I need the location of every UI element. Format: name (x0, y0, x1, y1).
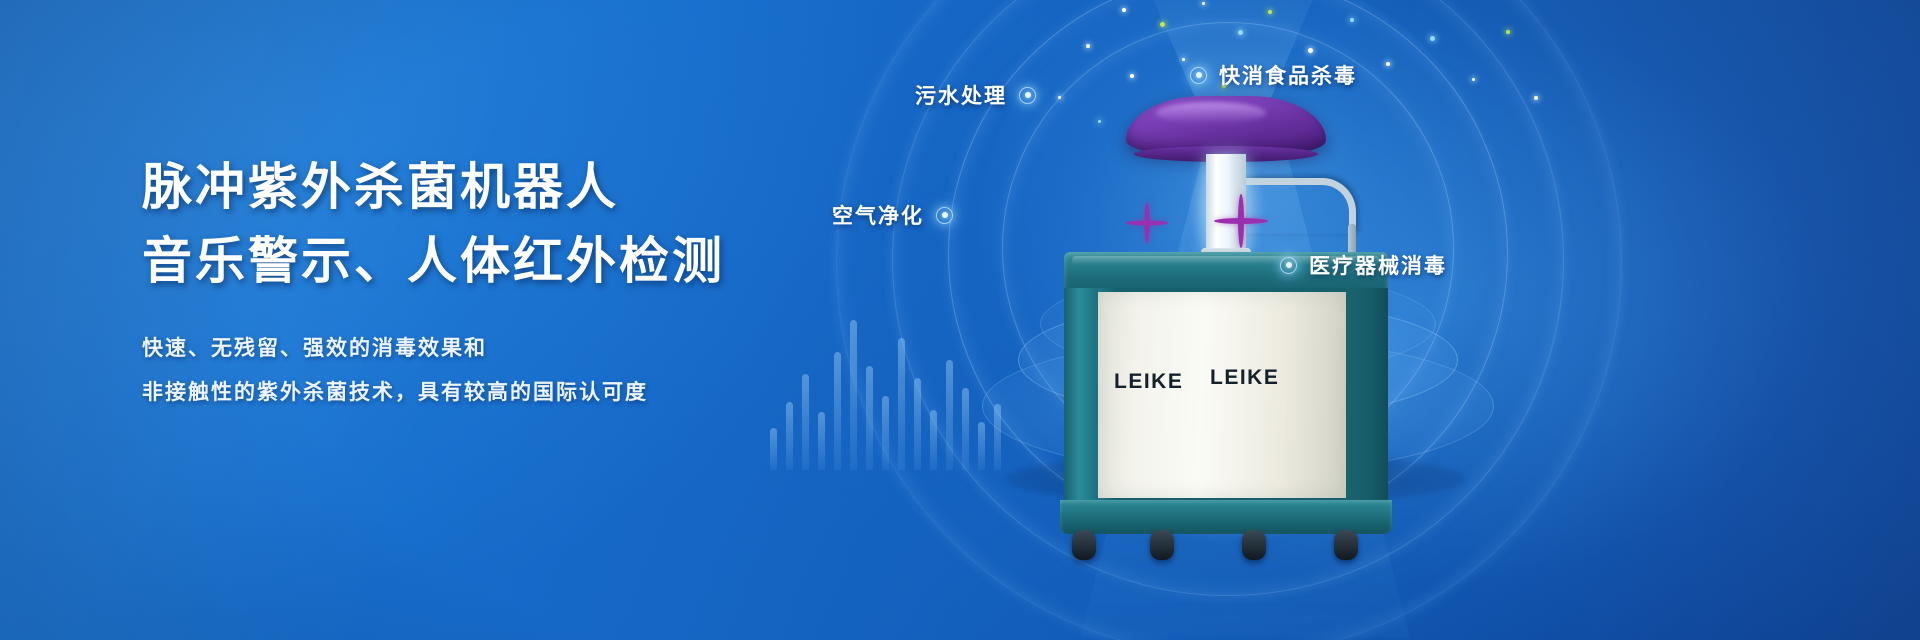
caster-wheel (1242, 530, 1266, 560)
caster-wheel (1334, 530, 1358, 560)
cabinet-base-skirt (1060, 500, 1392, 534)
sparkle-particle (1086, 44, 1090, 48)
sparkle-mark-icon (1126, 202, 1168, 244)
sparkle-particle (1506, 30, 1510, 34)
callout-label: 空气净化 (832, 200, 924, 230)
callout-node-icon (1019, 87, 1036, 104)
callout-fmcg-food-disinfection[interactable]: 快消食品杀毒 (1190, 60, 1357, 90)
sparkle-particle (1238, 30, 1243, 35)
callout-label: 污水处理 (915, 80, 1007, 110)
sparkle-particle (1122, 8, 1126, 12)
description-line-2: 非接触性的紫外杀菌技术，具有较高的国际认可度 (142, 370, 902, 414)
sparkle-particle (1202, 2, 1205, 5)
sparkle-mark-icon (1214, 194, 1268, 248)
sparkle-particle (1472, 78, 1475, 81)
promo-banner: 脉冲紫外杀菌机器人 音乐警示、人体红外检测 快速、无残留、强效的消毒效果和 非接… (0, 0, 1920, 640)
sparkle-particle (1268, 10, 1272, 14)
cabinet-front-panel (1096, 292, 1348, 498)
callout-sewage-treatment[interactable]: 污水处理 (915, 80, 1036, 110)
sparkle-particle (1308, 48, 1313, 53)
callout-air-purification[interactable]: 空气净化 (832, 200, 953, 230)
sparkle-particle (1182, 58, 1185, 61)
callout-label: 医疗器械消毒 (1309, 250, 1447, 280)
cabinet-right-edge (1346, 288, 1388, 502)
lamp-dome-highlight (1156, 102, 1266, 124)
caster-wheel (1150, 530, 1174, 560)
sparkle-particle (1130, 74, 1134, 78)
sparkle-particle (1160, 22, 1165, 27)
description-block: 快速、无残留、强效的消毒效果和 非接触性的紫外杀菌技术，具有较高的国际认可度 (142, 326, 902, 414)
cabinet-left-edge (1064, 288, 1098, 502)
sparkle-particle (1386, 62, 1390, 66)
brand-label-left: LEIKE (1114, 370, 1183, 394)
callout-node-icon (1190, 67, 1207, 84)
headline-line-1: 脉冲紫外杀菌机器人 (142, 150, 902, 224)
sparkle-particle (1534, 96, 1538, 100)
banner-copy: 脉冲紫外杀菌机器人 音乐警示、人体红外检测 快速、无残留、强效的消毒效果和 非接… (142, 150, 902, 414)
callout-medical-device-disinfection[interactable]: 医疗器械消毒 (1280, 250, 1447, 280)
sparkle-particle (1430, 36, 1435, 41)
callout-label: 快消食品杀毒 (1219, 60, 1357, 90)
callout-node-icon (1280, 257, 1297, 274)
brand-label-right: LEIKE (1210, 366, 1279, 390)
headline-line-2: 音乐警示、人体红外检测 (142, 224, 902, 298)
uv-disinfection-robot: LEIKE LEIKE (1038, 96, 1438, 516)
caster-wheel (1072, 530, 1096, 560)
sparkle-particle (1350, 18, 1354, 22)
callout-node-icon (936, 207, 953, 224)
description-line-1: 快速、无残留、强效的消毒效果和 (142, 326, 902, 370)
